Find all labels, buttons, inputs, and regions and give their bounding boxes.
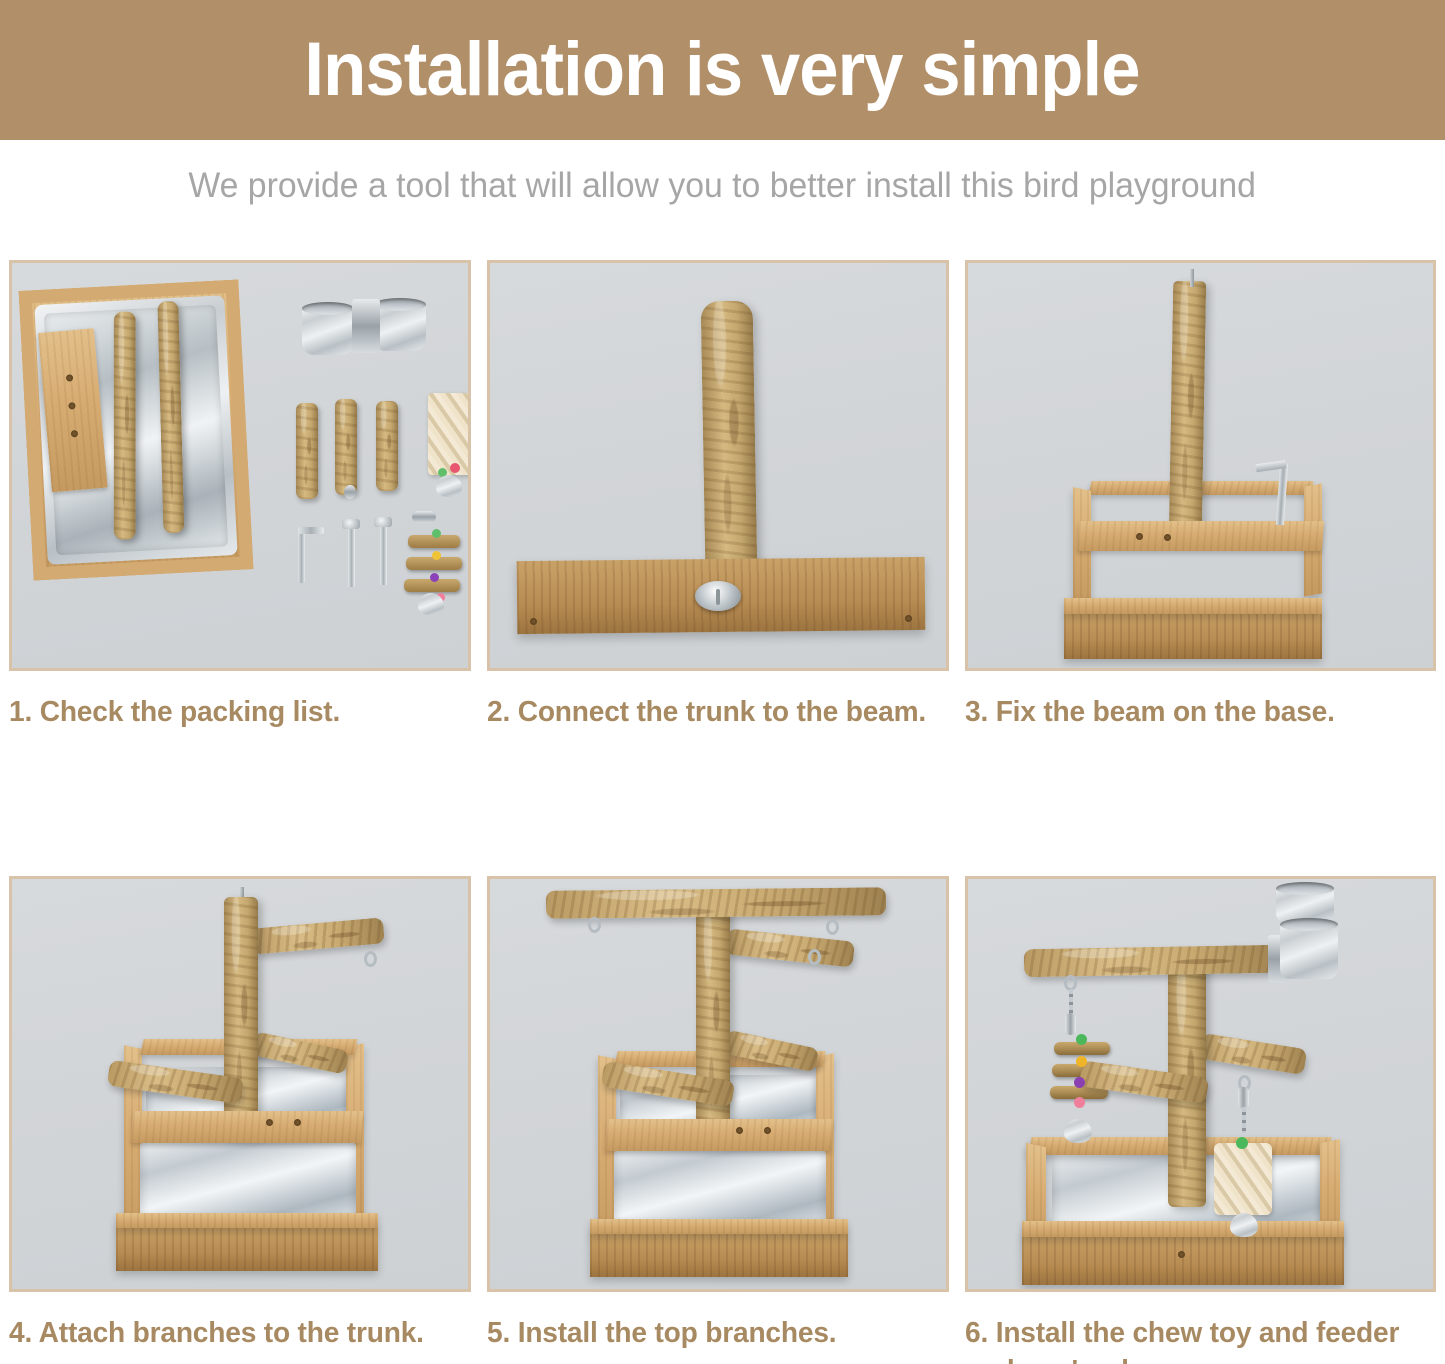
base-front-panel bbox=[590, 1231, 848, 1277]
step-3-caption: 3. Fix the beam on the base. bbox=[965, 693, 1422, 732]
mounting-screw bbox=[695, 581, 741, 611]
bolt-shaft-2 bbox=[380, 527, 387, 585]
beam-screw-hole bbox=[1136, 533, 1143, 540]
toy-bead-pink bbox=[450, 463, 460, 473]
toy-swivel-clip bbox=[1238, 1087, 1249, 1109]
lower-right-branch bbox=[1199, 1032, 1308, 1074]
step-2-scene bbox=[490, 263, 946, 668]
beam-screw-hole bbox=[1164, 534, 1171, 541]
bolt-head-1 bbox=[342, 519, 360, 529]
toy-bead-purple bbox=[1074, 1077, 1085, 1088]
step-5-photo bbox=[487, 876, 949, 1292]
base-screw-hole bbox=[1178, 1251, 1185, 1258]
step-4-scene bbox=[12, 879, 468, 1289]
step-1: 1. Check the packing list. bbox=[9, 260, 471, 732]
step-3-scene bbox=[968, 263, 1433, 668]
plank-screw-hole bbox=[66, 374, 74, 382]
beam-screw-hole bbox=[736, 1127, 743, 1134]
toy-bead-green bbox=[1076, 1034, 1087, 1045]
feeder-cup-rim bbox=[1280, 918, 1338, 931]
step-6-caption: 6. Install the chew toy and feeder and y… bbox=[965, 1314, 1422, 1364]
base-front-top-edge bbox=[1064, 598, 1322, 614]
feeder-cup-rim bbox=[302, 302, 354, 315]
small-branch-1 bbox=[296, 403, 318, 499]
step-4-caption: 4. Attach branches to the trunk. bbox=[9, 1314, 457, 1353]
plank-screw-hole bbox=[71, 430, 79, 438]
support-beam bbox=[131, 1111, 363, 1143]
beam-screw-hole bbox=[266, 1119, 273, 1126]
step-3: 3. Fix the beam on the base. bbox=[965, 260, 1436, 732]
eye-hook bbox=[808, 949, 821, 965]
feeder-cup-lower bbox=[1280, 923, 1338, 979]
step-5-caption: 5. Install the top branches. bbox=[487, 1314, 935, 1353]
toy-bead-pink bbox=[1074, 1097, 1085, 1108]
support-beam bbox=[605, 1119, 833, 1151]
base-front-top-edge bbox=[116, 1213, 378, 1228]
page-subtitle: We provide a tool that will allow you to… bbox=[189, 166, 1257, 206]
feeder-cup-rim bbox=[374, 298, 426, 311]
step-6-scene bbox=[968, 879, 1433, 1289]
toy-bead-green bbox=[1236, 1137, 1248, 1149]
beam-screw-hole bbox=[764, 1127, 771, 1134]
support-beam bbox=[1077, 521, 1324, 551]
step-6-photo bbox=[965, 876, 1436, 1292]
top-branch bbox=[546, 887, 886, 919]
toy-bead-yellow bbox=[1076, 1056, 1087, 1067]
ladder-bell bbox=[418, 593, 444, 615]
eye-hook bbox=[364, 951, 377, 967]
loofah-chew-toy bbox=[428, 393, 468, 475]
beam-screw-hole bbox=[530, 618, 537, 625]
bolt-shaft-1 bbox=[348, 529, 355, 587]
allen-wrench-arm bbox=[298, 527, 324, 534]
row-spacer bbox=[487, 732, 949, 876]
feeder-clamp bbox=[352, 299, 380, 353]
feeder-cup-left bbox=[302, 307, 354, 355]
step-4: 4. Attach branches to the trunk. bbox=[9, 876, 471, 1364]
base-front-panel bbox=[1064, 611, 1322, 659]
step-4-photo bbox=[9, 876, 471, 1292]
ladder-toy-clip bbox=[412, 511, 436, 523]
plank-screw-hole bbox=[68, 402, 76, 410]
step-1-caption: 1. Check the packing list. bbox=[9, 693, 457, 732]
trunk-top-bolt bbox=[1190, 269, 1194, 287]
ladder-bead-green bbox=[432, 529, 441, 538]
step-2-caption: 2. Connect the trunk to the beam. bbox=[487, 693, 935, 732]
tray-base-assembly bbox=[19, 279, 254, 580]
toy-bell bbox=[436, 475, 462, 497]
steel-pan-lower bbox=[614, 1149, 826, 1229]
step-1-photo bbox=[9, 260, 471, 671]
trunk-log bbox=[701, 301, 758, 572]
base-front-top-edge bbox=[590, 1219, 848, 1234]
row-spacer bbox=[9, 732, 471, 876]
branch-eye-hook bbox=[344, 485, 356, 499]
step-5: 5. Install the top branches. bbox=[487, 876, 949, 1364]
allen-wrench bbox=[298, 527, 305, 583]
subtitle-bar: We provide a tool that will allow you to… bbox=[0, 140, 1445, 232]
ladder-bead-purple bbox=[430, 573, 439, 582]
perch-log-1 bbox=[114, 312, 136, 540]
step-6: 6. Install the chew toy and feeder and y… bbox=[965, 876, 1436, 1364]
toy-bell-left bbox=[1064, 1119, 1092, 1143]
small-branch-2 bbox=[335, 399, 357, 495]
steel-pan-lower bbox=[140, 1141, 356, 1223]
upper-right-branch bbox=[251, 917, 385, 954]
feeder-cup-right bbox=[374, 303, 426, 351]
small-branch-3 bbox=[376, 401, 398, 491]
beam-screw-hole bbox=[905, 615, 912, 622]
step-2-photo bbox=[487, 260, 949, 671]
base-front-panel bbox=[1022, 1233, 1344, 1285]
page-title: Installation is very simple bbox=[305, 32, 1140, 108]
feeder-cup-rim bbox=[1276, 882, 1334, 895]
step-1-scene bbox=[12, 263, 468, 668]
loofah-chew-toy bbox=[1214, 1143, 1272, 1215]
eye-hook bbox=[588, 917, 601, 933]
toy-swivel-clip bbox=[1065, 1013, 1076, 1035]
base-front-panel bbox=[116, 1225, 378, 1271]
beam-screw-hole bbox=[294, 1119, 301, 1126]
steps-grid: 1. Check the packing list. 2. Connect th… bbox=[9, 260, 1436, 1364]
toy-bell-right bbox=[1230, 1213, 1258, 1237]
trunk-log bbox=[1169, 281, 1206, 537]
bolt-head-2 bbox=[374, 517, 392, 527]
installation-guide-page: Installation is very simple We provide a… bbox=[0, 0, 1445, 1364]
base-front-top-edge bbox=[1022, 1221, 1344, 1237]
header-banner: Installation is very simple bbox=[0, 0, 1445, 140]
top-branch bbox=[1024, 944, 1280, 976]
ladder-bead-yellow bbox=[432, 551, 441, 560]
toy-chain bbox=[1242, 1107, 1246, 1133]
eye-hook bbox=[826, 919, 839, 935]
step-2: 2. Connect the trunk to the beam. bbox=[487, 260, 949, 732]
step-5-scene bbox=[490, 879, 946, 1289]
row-spacer bbox=[965, 732, 1436, 876]
step-3-photo bbox=[965, 260, 1436, 671]
